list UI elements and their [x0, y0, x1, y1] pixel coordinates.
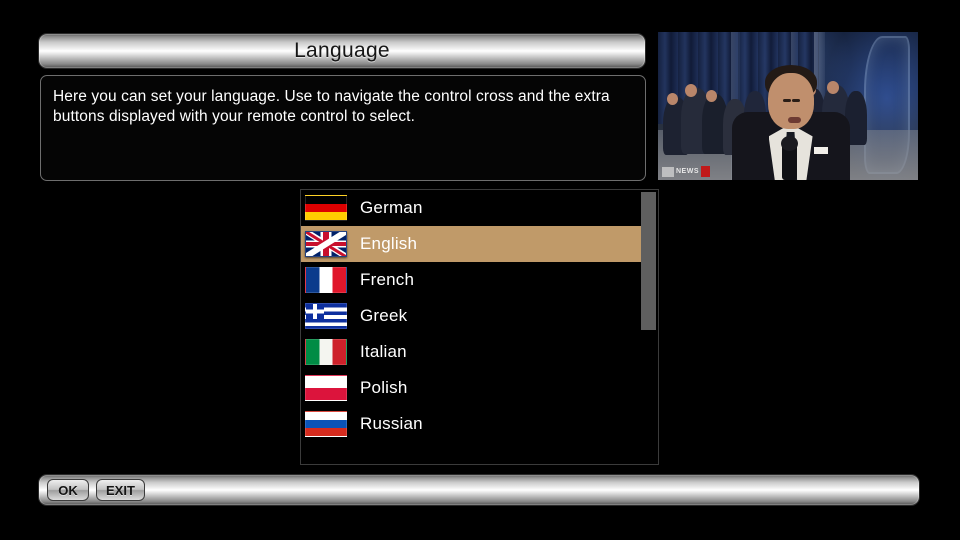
ok-button[interactable]: OK — [47, 479, 89, 501]
flag-russia-icon — [305, 411, 347, 437]
tv-settings-screen: Language Here you can set your language.… — [0, 0, 960, 540]
language-list[interactable]: German English French Greek Italian Poli… — [300, 189, 659, 465]
channel-bug-mark — [662, 167, 674, 177]
list-item-label: Greek — [360, 306, 407, 326]
list-item-english[interactable]: English — [301, 226, 641, 262]
page-title-bar: Language — [38, 33, 646, 69]
list-item-label: Polish — [360, 378, 408, 398]
description-text: Here you can set your language. Use to n… — [53, 87, 633, 127]
reporter-eye — [792, 99, 800, 102]
flag-poland-icon — [305, 375, 347, 401]
channel-bug-label: NEWS — [676, 168, 699, 175]
flag-germany-icon — [305, 195, 347, 221]
list-item-label: French — [360, 270, 414, 290]
exit-button-label: EXIT — [106, 483, 135, 498]
microphone-icon — [782, 140, 797, 180]
list-item-russian[interactable]: Russian — [301, 406, 658, 442]
reporter-eye — [783, 99, 791, 102]
page-title: Language — [294, 39, 390, 63]
list-item-french[interactable]: French — [301, 262, 658, 298]
reporter-face — [768, 73, 814, 129]
reporter-mouth — [788, 117, 801, 123]
list-item-label: English — [360, 234, 417, 254]
channel-bug: NEWS — [662, 166, 710, 177]
flag-france-icon — [305, 267, 347, 293]
flag-greece-icon — [305, 303, 347, 329]
list-item-greek[interactable]: Greek — [301, 298, 658, 334]
video-reporter — [744, 65, 838, 180]
list-item-polish[interactable]: Polish — [301, 370, 658, 406]
list-item-german[interactable]: German — [301, 190, 658, 226]
list-item-label: Italian — [360, 342, 407, 362]
reporter-pocket-square — [814, 147, 828, 154]
scrollbar-track[interactable] — [641, 192, 656, 464]
flag-united-kingdom-icon — [305, 231, 347, 257]
video-crowd-head — [706, 90, 717, 102]
list-item-label: Russian — [360, 414, 423, 434]
video-crowd-head — [667, 93, 678, 105]
list-item-label: German — [360, 198, 423, 218]
ok-button-label: OK — [58, 483, 78, 498]
channel-bug-accent — [701, 166, 710, 177]
list-item-italian[interactable]: Italian — [301, 334, 658, 370]
video-preview[interactable]: NEWS — [658, 32, 918, 180]
description-box: Here you can set your language. Use to n… — [40, 75, 646, 181]
flag-italy-icon — [305, 339, 347, 365]
scrollbar-thumb[interactable] — [641, 192, 656, 330]
footer-bar: OK EXIT — [38, 474, 920, 506]
exit-button[interactable]: EXIT — [96, 479, 145, 501]
